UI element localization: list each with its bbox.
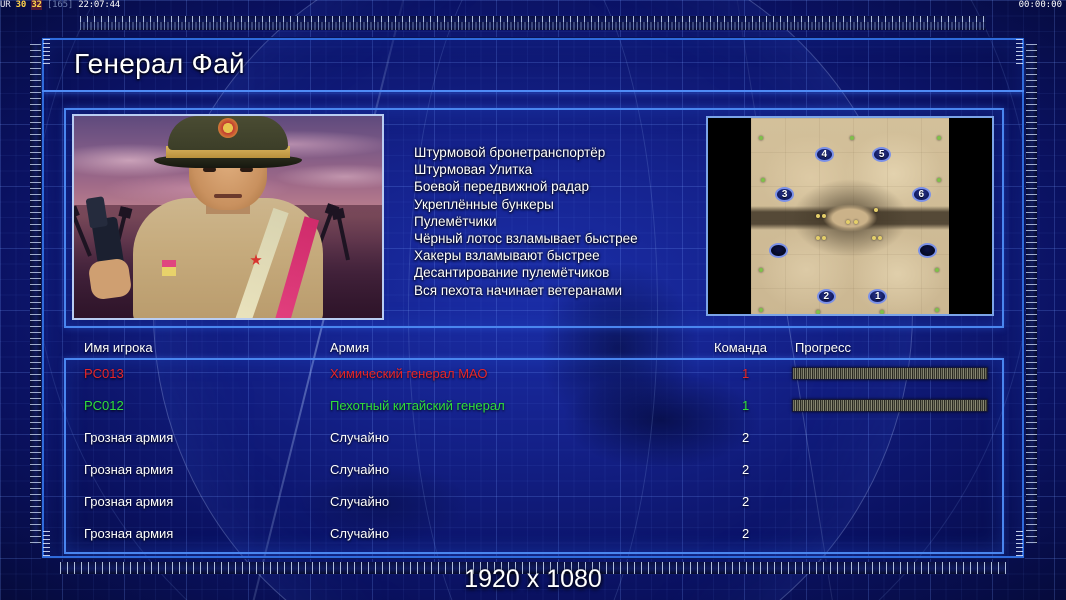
map-supply-dot bbox=[850, 136, 854, 140]
cell-team[interactable]: 1 bbox=[742, 396, 749, 415]
ability-item: Штурмовая Улитка bbox=[414, 161, 700, 178]
general-portrait bbox=[72, 114, 384, 320]
cell-team[interactable]: 2 bbox=[742, 524, 749, 543]
cell-army[interactable]: Случайно bbox=[330, 492, 389, 511]
ruler-top bbox=[80, 16, 986, 28]
column-header-progress: Прогресс bbox=[795, 340, 851, 355]
status-bracket: [165] bbox=[47, 0, 73, 10]
map-supply-dot bbox=[816, 214, 820, 218]
map-supply-dot bbox=[880, 310, 884, 314]
map-supply-dot bbox=[935, 308, 939, 312]
ability-item: Боевой передвижной радар bbox=[414, 178, 700, 195]
map-start-position-2[interactable]: 2 bbox=[817, 289, 836, 304]
ability-item: Хакеры взламывают быстрее bbox=[414, 247, 700, 264]
window-corner-bottom-left bbox=[43, 531, 50, 557]
progress-bar bbox=[792, 399, 988, 412]
player-table-header: Имя игрока Армия Команда Прогресс bbox=[76, 340, 1004, 358]
map-supply-dot bbox=[759, 308, 763, 312]
cell-player-name: Грозная армия bbox=[84, 460, 173, 479]
map-supply-dot bbox=[759, 268, 763, 272]
status-num-1: 30 bbox=[16, 0, 26, 10]
game-lobby-screen: UR 30 32 [165] 22:07:44 00:00:00 Генерал… bbox=[0, 0, 1066, 600]
table-row[interactable]: PC013Химический генерал МАО1 bbox=[76, 364, 1004, 388]
cell-team[interactable]: 2 bbox=[742, 460, 749, 479]
title-bar: Генерал Фай bbox=[42, 40, 1024, 92]
map-start-position-1[interactable]: 1 bbox=[868, 289, 887, 304]
map-supply-dot bbox=[854, 220, 858, 224]
window-corner-bottom-right bbox=[1016, 531, 1023, 557]
map-supply-dot bbox=[822, 214, 826, 218]
ability-item: Вся пехота начинает ветеранами bbox=[414, 282, 700, 299]
map-supply-dot bbox=[846, 220, 850, 224]
map-supply-dot bbox=[878, 236, 882, 240]
map-start-position-empty[interactable] bbox=[769, 243, 788, 258]
status-bar-right: 00:00:00 bbox=[1019, 0, 1062, 11]
map-supply-dot bbox=[937, 178, 941, 182]
table-row[interactable]: Грозная армияСлучайно2 bbox=[76, 492, 1004, 516]
cell-player-name: PC012 bbox=[84, 396, 124, 415]
cell-player-name: PC013 bbox=[84, 364, 124, 383]
cell-player-name: Грозная армия bbox=[84, 524, 173, 543]
cell-army[interactable]: Случайно bbox=[330, 428, 389, 447]
status-num-2: 32 bbox=[31, 0, 41, 10]
ruler-top-fine bbox=[80, 22, 986, 30]
map-supply-dot bbox=[759, 136, 763, 140]
map-start-position-6[interactable]: 6 bbox=[912, 187, 931, 202]
map-supply-dot bbox=[935, 268, 939, 272]
map-supply-dot bbox=[872, 236, 876, 240]
portrait-mouth bbox=[214, 194, 242, 198]
ability-item: Укреплённые бункеры bbox=[414, 196, 700, 213]
column-header-team: Команда bbox=[714, 340, 767, 355]
status-clock: 22:07:44 bbox=[78, 0, 120, 10]
ability-item: Десантирование пулемётчиков bbox=[414, 264, 700, 281]
portrait-hand bbox=[88, 257, 133, 300]
cell-team[interactable]: 2 bbox=[742, 428, 749, 447]
map-supply-dot bbox=[937, 136, 941, 140]
column-header-name: Имя игрока bbox=[84, 340, 153, 355]
portrait-medal bbox=[162, 260, 176, 276]
cell-player-name: Грозная армия bbox=[84, 428, 173, 447]
cell-army[interactable]: Случайно bbox=[330, 524, 389, 543]
map-start-position-4[interactable]: 4 bbox=[815, 147, 834, 162]
resolution-label: 1920 x 1080 bbox=[0, 565, 1066, 594]
status-prefix: UR bbox=[0, 0, 10, 10]
map-preview-image: 453621 bbox=[751, 118, 949, 316]
column-header-army: Армия bbox=[330, 340, 369, 355]
table-row[interactable]: Грозная армияСлучайно2 bbox=[76, 460, 1004, 484]
status-bar-left: UR 30 32 [165] 22:07:44 bbox=[0, 0, 120, 11]
cell-player-name: Грозная армия bbox=[84, 492, 173, 511]
ability-item: Чёрный лотос взламывает быстрее bbox=[414, 230, 700, 247]
cell-army[interactable]: Случайно bbox=[330, 460, 389, 479]
map-start-position-5[interactable]: 5 bbox=[872, 147, 891, 162]
table-row[interactable]: Грозная армияСлучайно2 bbox=[76, 524, 1004, 548]
portrait-cap-badge bbox=[218, 118, 238, 138]
ruler-right bbox=[1026, 44, 1037, 544]
table-row[interactable]: Грозная армияСлучайно2 bbox=[76, 428, 1004, 452]
ability-item: Пулемётчики bbox=[414, 213, 700, 230]
map-start-position-empty[interactable] bbox=[918, 243, 937, 258]
cell-progress bbox=[792, 399, 988, 412]
map-supply-dot bbox=[822, 236, 826, 240]
map-supply-dot bbox=[874, 208, 878, 212]
cell-army[interactable]: Химический генерал МАО bbox=[330, 364, 488, 383]
progress-bar bbox=[792, 367, 988, 380]
map-supply-dot bbox=[816, 236, 820, 240]
cell-team[interactable]: 1 bbox=[742, 364, 749, 383]
general-abilities-list: Штурмовой бронетранспортёрШтурмовая Улит… bbox=[414, 144, 700, 299]
map-supply-dot bbox=[816, 310, 820, 314]
ruler-left bbox=[30, 44, 41, 544]
cell-progress bbox=[792, 367, 988, 380]
map-preview[interactable]: 453621 bbox=[706, 116, 994, 316]
cell-team[interactable]: 2 bbox=[742, 492, 749, 511]
table-row[interactable]: PC012Пехотный китайский генерал1 bbox=[76, 396, 1004, 420]
page-title: Генерал Фай bbox=[74, 48, 245, 80]
ability-item: Штурмовой бронетранспортёр bbox=[414, 144, 700, 161]
cell-army[interactable]: Пехотный китайский генерал bbox=[330, 396, 505, 415]
map-start-position-3[interactable]: 3 bbox=[775, 187, 794, 202]
map-supply-dot bbox=[761, 178, 765, 182]
